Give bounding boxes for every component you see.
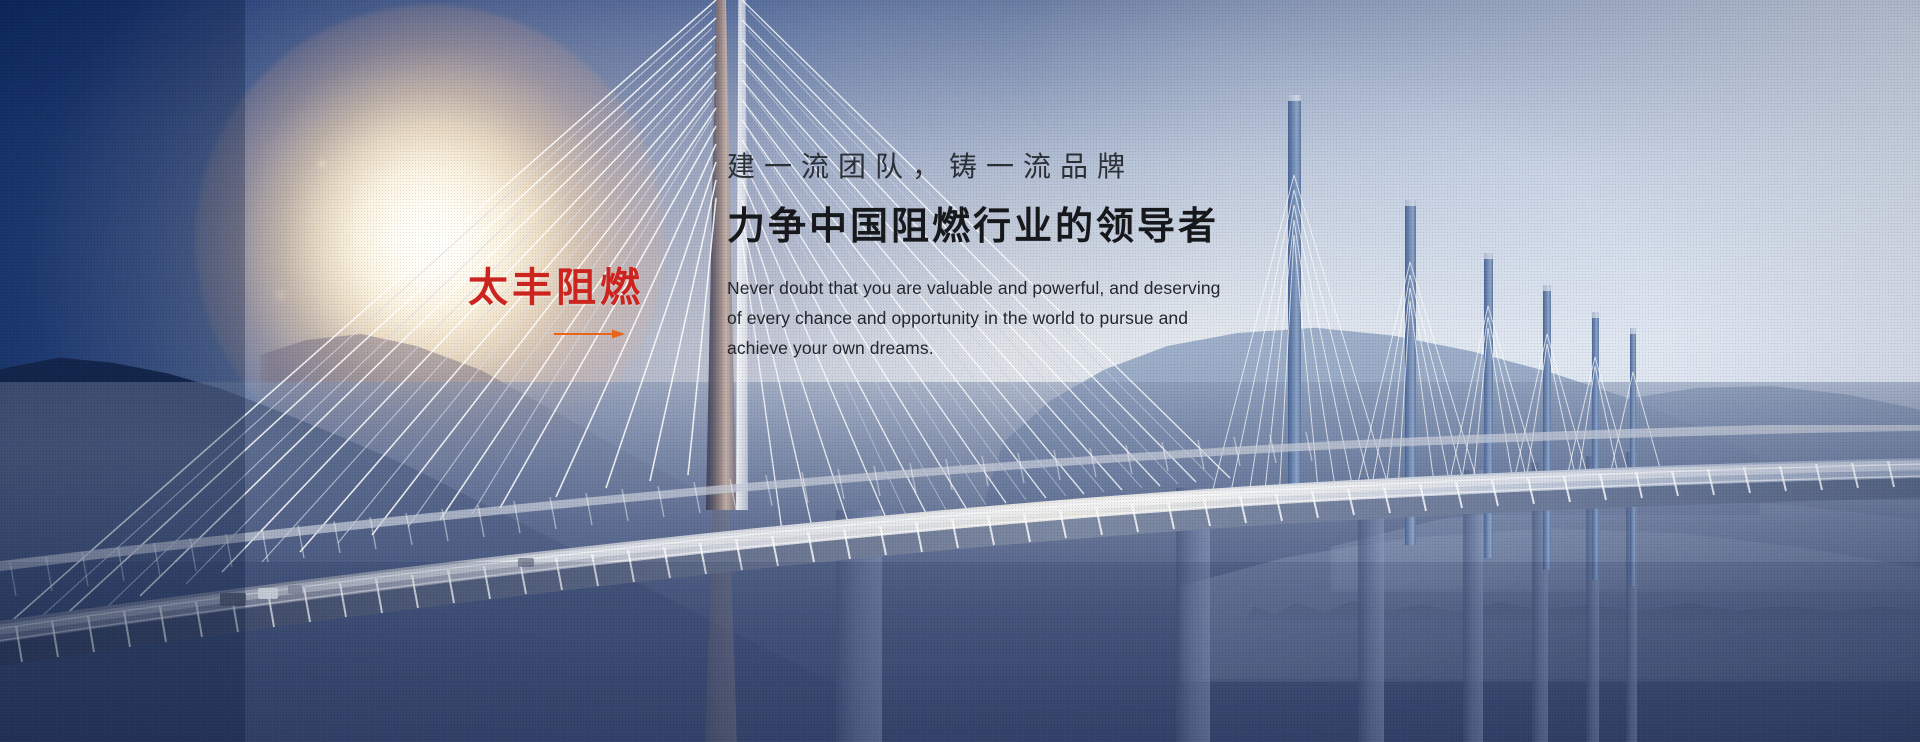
banner-content: 太丰阻燃 建一流团队，铸一流品牌 力争中国阻燃行业的领导者 Never doub…: [0, 0, 1920, 742]
brand-logo[interactable]: 太丰阻燃: [468, 268, 668, 308]
hero-banner: 太丰阻燃 建一流团队，铸一流品牌 力争中国阻燃行业的领导者 Never doub…: [0, 0, 1920, 742]
paragraph-line-2: of every chance and opportunity in the w…: [727, 303, 1427, 333]
paragraph-line-1: Never doubt that you are valuable and po…: [727, 273, 1427, 303]
brand-logo-text: 太丰阻燃: [468, 268, 668, 308]
headline-block: 建一流团队，铸一流品牌 力争中国阻燃行业的领导者 Never doubt tha…: [727, 148, 1427, 363]
paragraph-line-3: achieve your own dreams.: [727, 333, 1427, 363]
arrow-right-icon: [554, 328, 626, 340]
headline-subtitle: 建一流团队，铸一流品牌: [727, 148, 1427, 186]
headline-paragraph: Never doubt that you are valuable and po…: [727, 273, 1427, 363]
headline-title: 力争中国阻燃行业的领导者: [727, 202, 1427, 251]
